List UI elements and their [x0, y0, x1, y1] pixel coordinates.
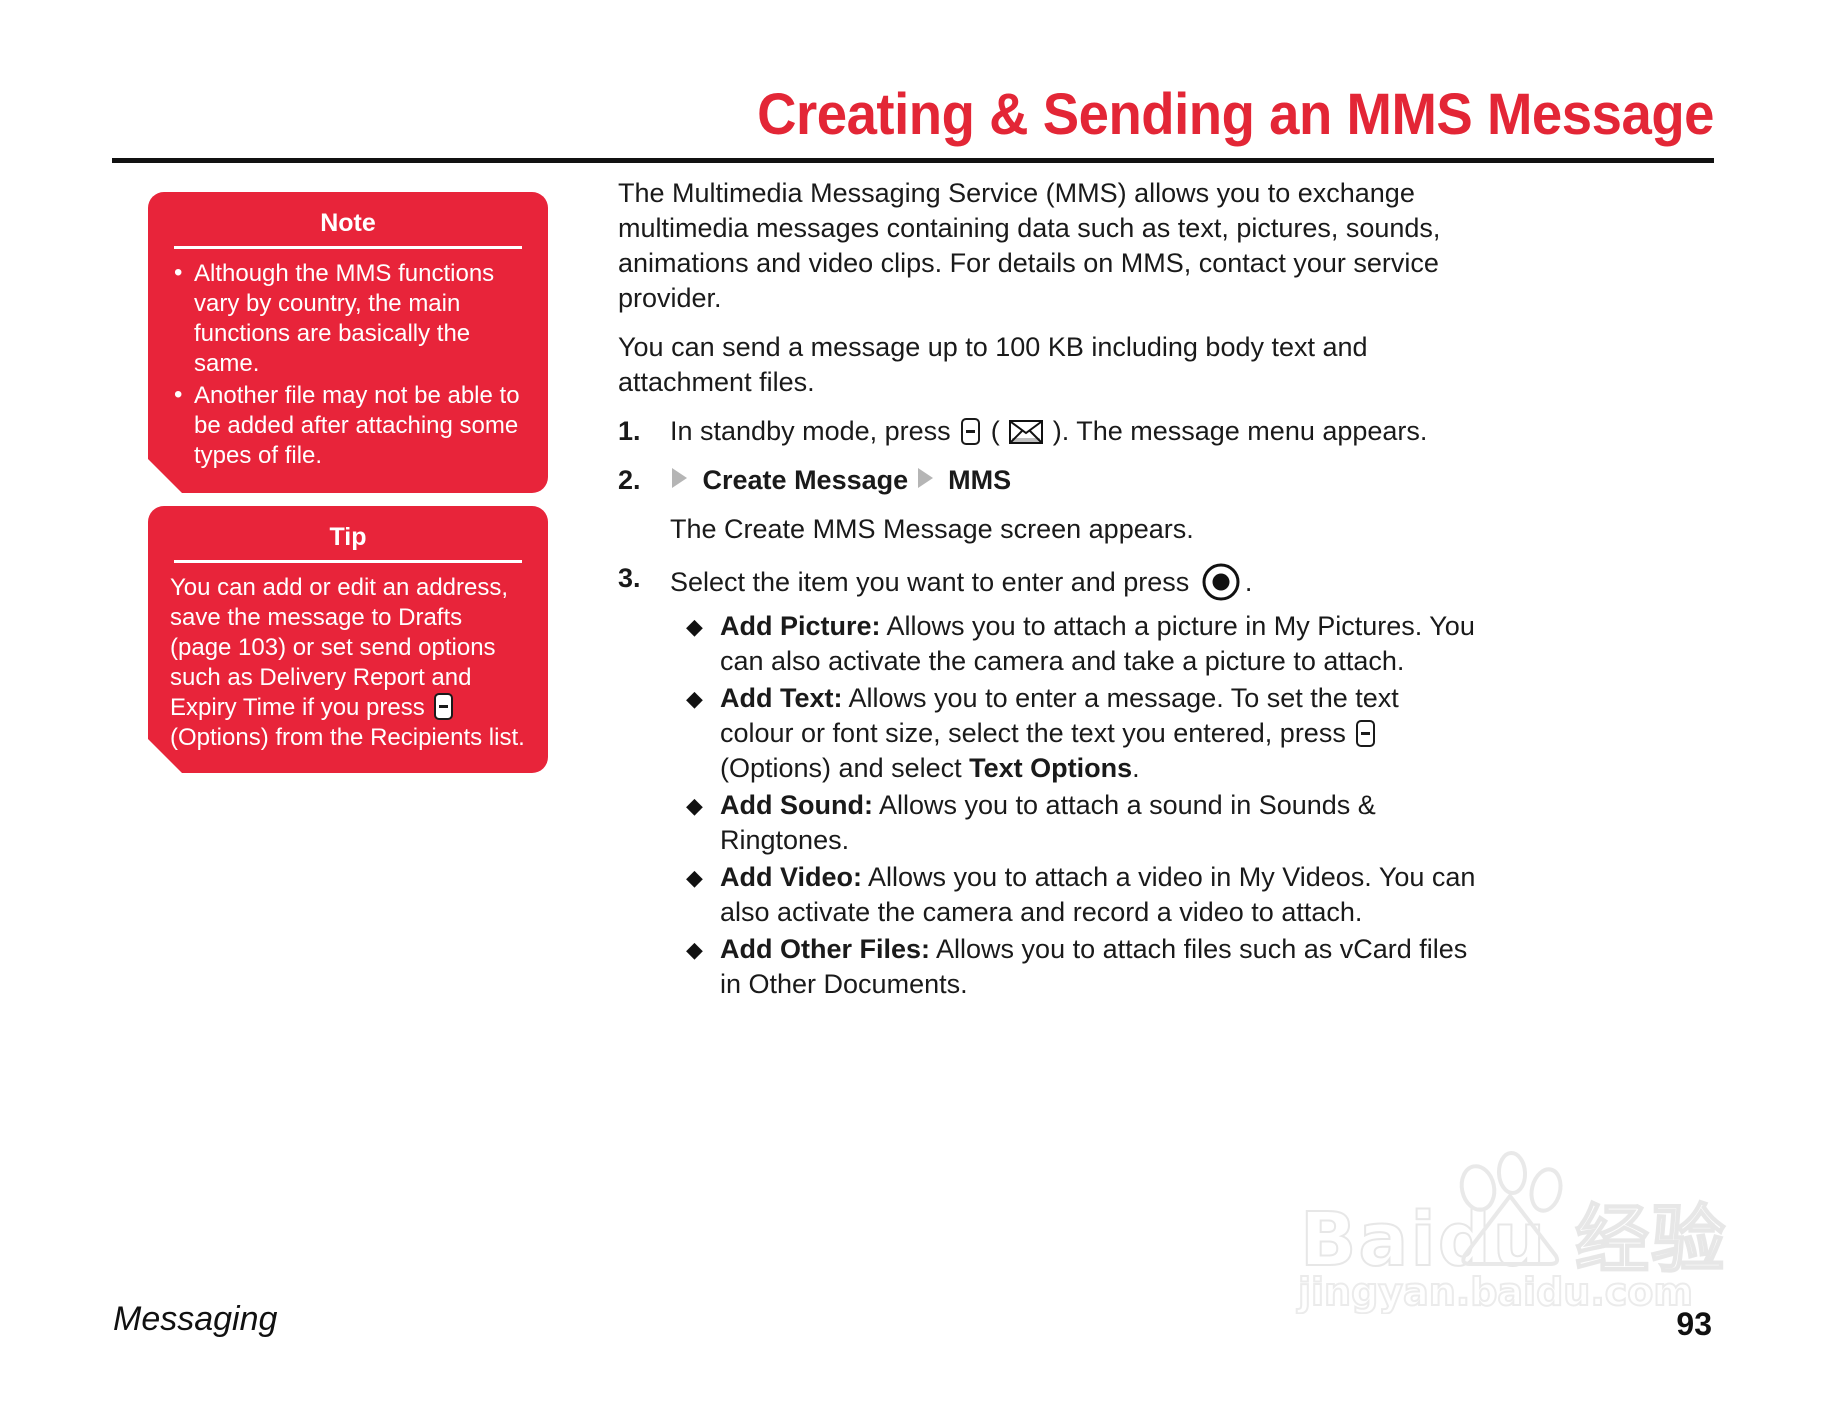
softkey-options-icon — [1356, 720, 1375, 747]
step-2-subtext: The Create MMS Message screen appears. — [670, 512, 1478, 547]
step-3-text-a: Select the item you want to enter and pr… — [670, 567, 1189, 597]
envelope-icon — [1009, 418, 1043, 442]
ok-center-key-icon — [1200, 561, 1242, 603]
note-callout: Note Although the MMS functions vary by … — [148, 192, 548, 493]
baidu-watermark: Baidu 经验 jingyan.baidu.com — [1290, 1150, 1730, 1350]
list-item-add-sound: Add Sound: Allows you to attach a sound … — [670, 788, 1478, 858]
option-label: Add Sound: — [720, 790, 873, 820]
intro-paragraph-1: The Multimedia Messaging Service (MMS) a… — [618, 176, 1478, 316]
option-description-b: (Options) and select — [720, 753, 962, 783]
page-title: Creating & Sending an MMS Message — [216, 84, 1714, 146]
option-label: Add Video: — [720, 862, 862, 892]
list-item-add-video: Add Video: Allows you to attach a video … — [670, 860, 1478, 930]
main-content: The Multimedia Messaging Service (MMS) a… — [618, 176, 1478, 1016]
attachment-options-list: Add Picture: Allows you to attach a pict… — [670, 609, 1478, 1002]
menu-path-create-message: Create Message — [703, 465, 909, 495]
step-1-text-c: ). The message menu appears. — [1053, 416, 1428, 446]
list-item-add-other-files: Add Other Files: Allows you to attach fi… — [670, 932, 1478, 1002]
option-bold-tail: Text Options — [969, 753, 1132, 783]
list-item: Another file may not be able to be added… — [170, 381, 526, 471]
tip-callout-body: You can add or edit an address, save the… — [170, 573, 526, 753]
option-label: Add Text: — [720, 683, 843, 713]
step-3-number: 3. — [618, 561, 641, 596]
list-item-add-text: Add Text: Allows you to enter a message.… — [670, 681, 1478, 786]
chevron-right-icon — [672, 468, 687, 488]
menu-path-mms: MMS — [948, 465, 1011, 495]
watermark-url: jingyan.baidu.com — [1298, 1270, 1693, 1314]
option-label: Add Picture: — [720, 611, 881, 641]
step-3-text-b: . — [1245, 567, 1253, 597]
softkey-options-icon — [434, 693, 453, 720]
chevron-right-icon — [918, 468, 933, 488]
step-3: 3. Select the item you want to enter and… — [618, 561, 1478, 1002]
watermark-brand: Baidu 经验 — [1300, 1180, 1727, 1287]
page-number: 93 — [1676, 1306, 1712, 1343]
tip-text-before-icon: You can add or edit an address, save the… — [170, 574, 508, 721]
manual-page: Creating & Sending an MMS Message Note A… — [0, 0, 1824, 1404]
option-description-c: . — [1132, 753, 1140, 783]
step-1-text-b: ( — [991, 416, 1000, 446]
tip-callout-title: Tip — [170, 522, 526, 560]
footer-section-label: Messaging — [113, 1300, 277, 1339]
procedure-steps: 1. In standby mode, press ( ). The messa… — [618, 414, 1478, 1002]
tip-callout: Tip You can add or edit an address, save… — [148, 506, 548, 773]
header-divider — [112, 158, 1714, 163]
step-1-text-a: In standby mode, press — [670, 416, 951, 446]
paw-logo-icon — [1438, 1148, 1588, 1273]
list-item: Although the MMS functions vary by count… — [170, 259, 526, 379]
list-item-add-picture: Add Picture: Allows you to attach a pict… — [670, 609, 1478, 679]
note-callout-list: Although the MMS functions vary by count… — [170, 259, 526, 471]
step-1: 1. In standby mode, press ( ). The messa… — [618, 414, 1478, 449]
step-2-number: 2. — [618, 463, 641, 498]
tip-text-after-icon: (Options) from the Recipients list. — [170, 724, 525, 751]
step-2: 2. Create Message MMS The Create MMS Mes… — [618, 463, 1478, 547]
note-callout-title: Note — [170, 208, 526, 246]
option-label: Add Other Files: — [720, 934, 930, 964]
softkey-icon — [961, 418, 980, 445]
note-callout-divider — [174, 246, 522, 249]
step-1-number: 1. — [618, 414, 641, 449]
tip-callout-divider — [174, 560, 522, 563]
intro-paragraph-2: You can send a message up to 100 KB incl… — [618, 330, 1478, 400]
